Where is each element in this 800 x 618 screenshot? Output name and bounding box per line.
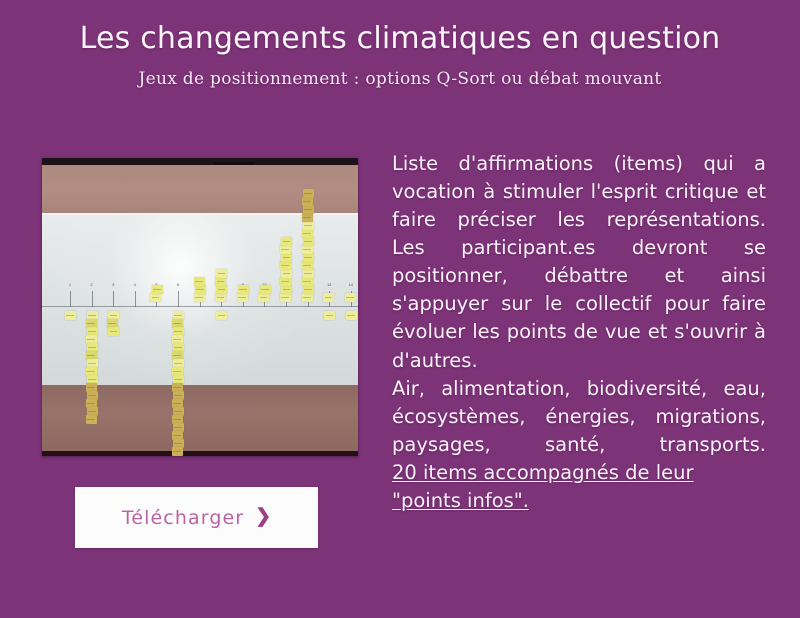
sticky-note xyxy=(323,293,334,302)
axis-tick-label: 13 xyxy=(327,282,331,287)
axis-tick-label: 1 xyxy=(69,282,71,287)
sticky-note xyxy=(302,213,313,222)
whiteboard-photo: 1234567891011121314 xyxy=(42,158,358,456)
axis-tick-label: 2 xyxy=(90,282,92,287)
sticky-note xyxy=(215,293,226,302)
description-block: Liste d'affirmations (items) qui a vocat… xyxy=(392,150,766,515)
axis-tick-label: 4 xyxy=(134,282,136,287)
sticky-note xyxy=(303,285,314,294)
sticky-note xyxy=(194,277,205,286)
sticky-note xyxy=(324,311,335,320)
axis-tick-label: 6 xyxy=(177,282,179,287)
sticky-note xyxy=(303,269,314,278)
download-button-label: Télécharger xyxy=(122,507,244,529)
sticky-note xyxy=(302,245,313,254)
sticky-note xyxy=(237,293,248,302)
sticky-note xyxy=(86,415,97,424)
sticky-note xyxy=(303,253,314,262)
sticky-note xyxy=(215,277,226,286)
sticky-note xyxy=(302,229,313,238)
sticky-note xyxy=(302,277,313,286)
sticky-note xyxy=(280,293,291,302)
download-button[interactable]: Télécharger ❯ xyxy=(75,487,318,548)
sticky-note xyxy=(303,189,314,198)
chevron-right-icon: ❯ xyxy=(255,507,271,526)
sticky-note xyxy=(302,261,313,270)
sticky-note xyxy=(238,285,249,294)
sticky-note xyxy=(258,293,269,302)
sticky-note xyxy=(280,261,291,270)
axis-tick xyxy=(113,291,114,307)
sticky-note xyxy=(108,327,119,336)
sticky-note xyxy=(280,245,291,254)
axis-tick-label: 3 xyxy=(112,282,114,287)
sticky-note xyxy=(150,293,161,302)
sticky-note xyxy=(281,237,292,246)
sticky-note xyxy=(303,205,314,214)
sticky-note xyxy=(346,311,357,320)
sticky-note xyxy=(216,285,227,294)
sticky-note xyxy=(302,197,313,206)
sticky-note xyxy=(172,447,183,456)
paragraph-definition: Liste d'affirmations (items) qui a vocat… xyxy=(392,150,766,234)
sticky-note xyxy=(280,277,291,286)
axis-tick xyxy=(135,291,136,307)
axis-tick-label: 14 xyxy=(349,282,353,287)
axis-tick xyxy=(70,291,71,307)
photo-scene: 1234567891011121314 xyxy=(42,158,358,456)
page-title: Les changements climatiques en question xyxy=(0,22,800,55)
header: Les changements climatiques en question … xyxy=(0,22,800,89)
sticky-note xyxy=(345,293,356,302)
sticky-note xyxy=(195,285,206,294)
sticky-note xyxy=(281,253,292,262)
floor-shadow xyxy=(42,451,358,456)
sticky-note xyxy=(152,285,163,294)
paragraph-items-count: 20 items accompagnés de leur "points inf… xyxy=(392,459,766,515)
paragraph-themes: Air, alimentation, biodiversité, eau, éc… xyxy=(392,375,766,459)
slide-root: Les changements climatiques en question … xyxy=(0,0,800,618)
sticky-note xyxy=(302,293,313,302)
sticky-note xyxy=(281,285,292,294)
sticky-note xyxy=(65,311,76,320)
page-subtitle: Jeux de positionnement : options Q-Sort … xyxy=(0,69,800,89)
axis-tick xyxy=(178,291,179,307)
sticky-note xyxy=(303,221,314,230)
axis-tick xyxy=(92,291,93,307)
sticky-note xyxy=(260,285,271,294)
sticky-note xyxy=(216,269,227,278)
sticky-note xyxy=(194,293,205,302)
ceiling-strip xyxy=(42,158,358,165)
sticky-note xyxy=(216,311,227,320)
sticky-note xyxy=(281,269,292,278)
paragraph-process: Les participant.es devront se positionne… xyxy=(392,234,766,374)
sticky-note xyxy=(303,237,314,246)
